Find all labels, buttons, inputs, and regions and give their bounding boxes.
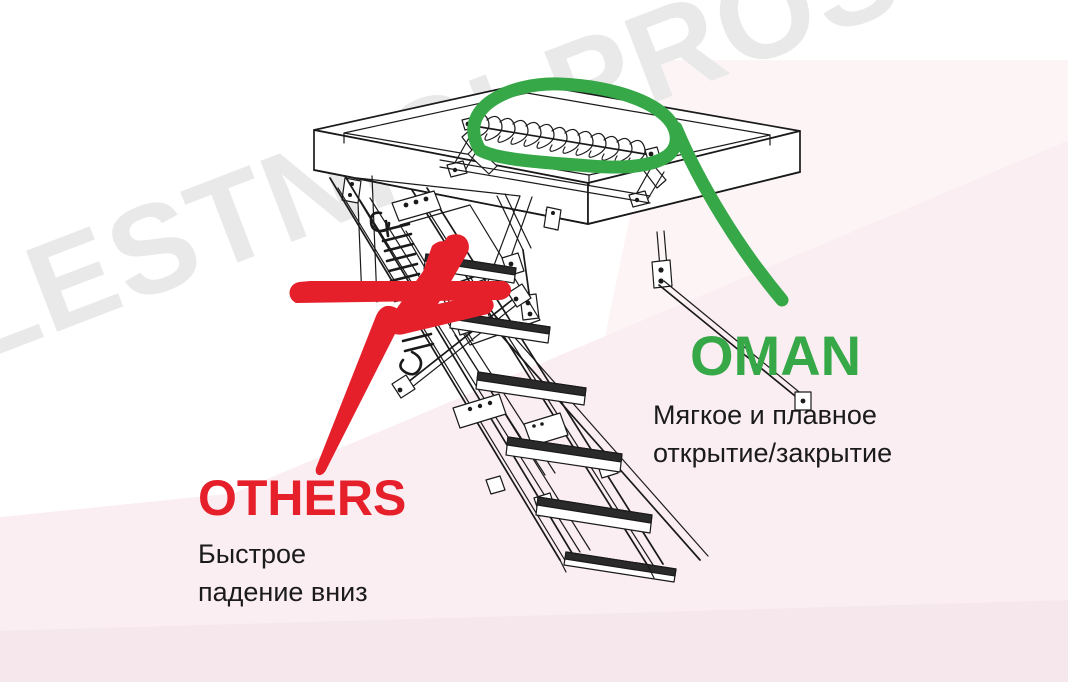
others-title: OTHERS: [198, 473, 406, 523]
others-subtitle-line-1: Быстрое: [198, 535, 406, 573]
annotation-bad: OTHERS Быстрое падение вниз: [198, 473, 406, 612]
ladder-step: [536, 497, 652, 533]
oman-subtitle: Мягкое и плавное открытие/закрытие: [653, 396, 892, 473]
ladder-step: [506, 437, 622, 472]
illustration-canvas: LESTNICI-PROSTO.RU .ln { fill:none; stro…: [0, 0, 1068, 682]
others-subtitle: Быстрое падение вниз: [198, 535, 406, 612]
ladder-technical-drawing: .ln { fill:none; stroke:#1a1a1a; stroke-…: [0, 0, 1068, 682]
annotation-good: OMAN Мягкое и плавное открытие/закрытие: [690, 328, 892, 473]
others-subtitle-line-2: падение вниз: [198, 573, 406, 611]
oman-title: OMAN: [690, 328, 892, 384]
oman-subtitle-line-1: Мягкое и плавное: [653, 396, 892, 434]
oman-subtitle-line-2: открытие/закрытие: [653, 434, 892, 472]
ceiling-hatch-frame: [314, 83, 800, 224]
